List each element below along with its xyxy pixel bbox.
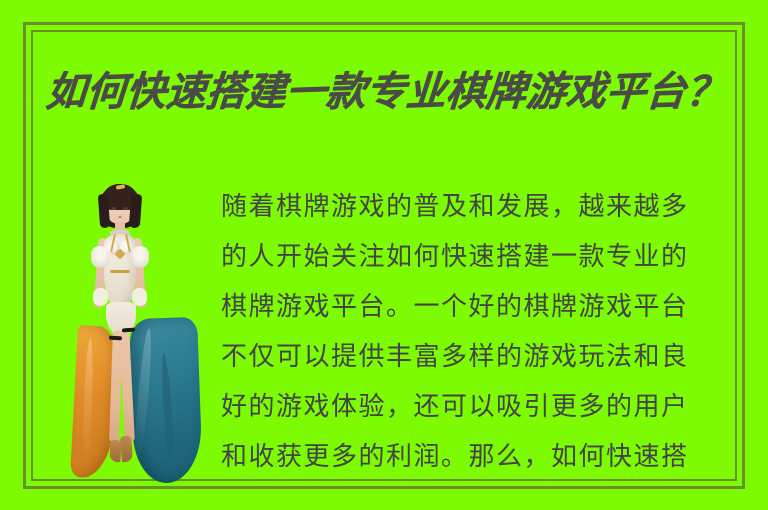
headline-char: 快 (124, 58, 168, 117)
character-waist-band (110, 270, 130, 273)
headline-char: 专 (364, 58, 408, 117)
headline-char: 游 (524, 58, 568, 117)
headline-char: 牌 (484, 58, 528, 117)
headline-char: 一 (284, 58, 328, 117)
body-line: 的人开始关注如何快速搭建一款专业的 (221, 232, 727, 282)
headline-char: 棋 (444, 58, 488, 117)
character-sleeve-right (131, 246, 149, 268)
body-line: 好的游戏体验，还可以吸引更多的用户 (221, 382, 727, 432)
character-eye-right (123, 207, 128, 210)
character-hair-side-right (129, 194, 142, 229)
body-line: 和收获更多的利润。那么，如何快速搭 (221, 432, 727, 472)
headline-char: 搭 (204, 58, 248, 117)
headline-char: 戏 (564, 58, 608, 117)
poster-canvas: 如何快速搭建一款专业棋牌游戏平台？ (0, 0, 768, 510)
headline-char: 台 (644, 58, 688, 117)
headline-char: 如 (44, 58, 88, 117)
headline-char: 何 (84, 58, 128, 117)
body-line: 不仅可以提供丰富多样的游戏玩法和良 (221, 332, 727, 382)
character-eye-left (111, 207, 116, 210)
character-heel-right (120, 436, 133, 463)
headline-char: 速 (164, 58, 208, 117)
headline-char: ？ (684, 58, 728, 117)
character-cuff-left (93, 288, 108, 306)
character-illustration (60, 178, 200, 483)
character-mouth (118, 216, 122, 218)
body-line: 棋牌游戏平台。一个好的棋牌游戏平台 (221, 282, 727, 332)
headline-char: 平 (604, 58, 648, 117)
headline-title: 如何快速搭建一款专业棋牌游戏平台？ (43, 60, 725, 116)
body-line: 随着棋牌游戏的普及和发展，越来越多 (221, 182, 727, 232)
headline-char: 款 (324, 58, 368, 117)
headline-char: 建 (244, 58, 288, 117)
character-garter-left (109, 336, 122, 341)
character-sleeve-left (91, 246, 109, 268)
headline-char: 业 (404, 58, 448, 117)
body-paragraph: 随着棋牌游戏的普及和发展，越来越多的人开始关注如何快速搭建一款专业的棋牌游戏平台… (221, 182, 727, 472)
